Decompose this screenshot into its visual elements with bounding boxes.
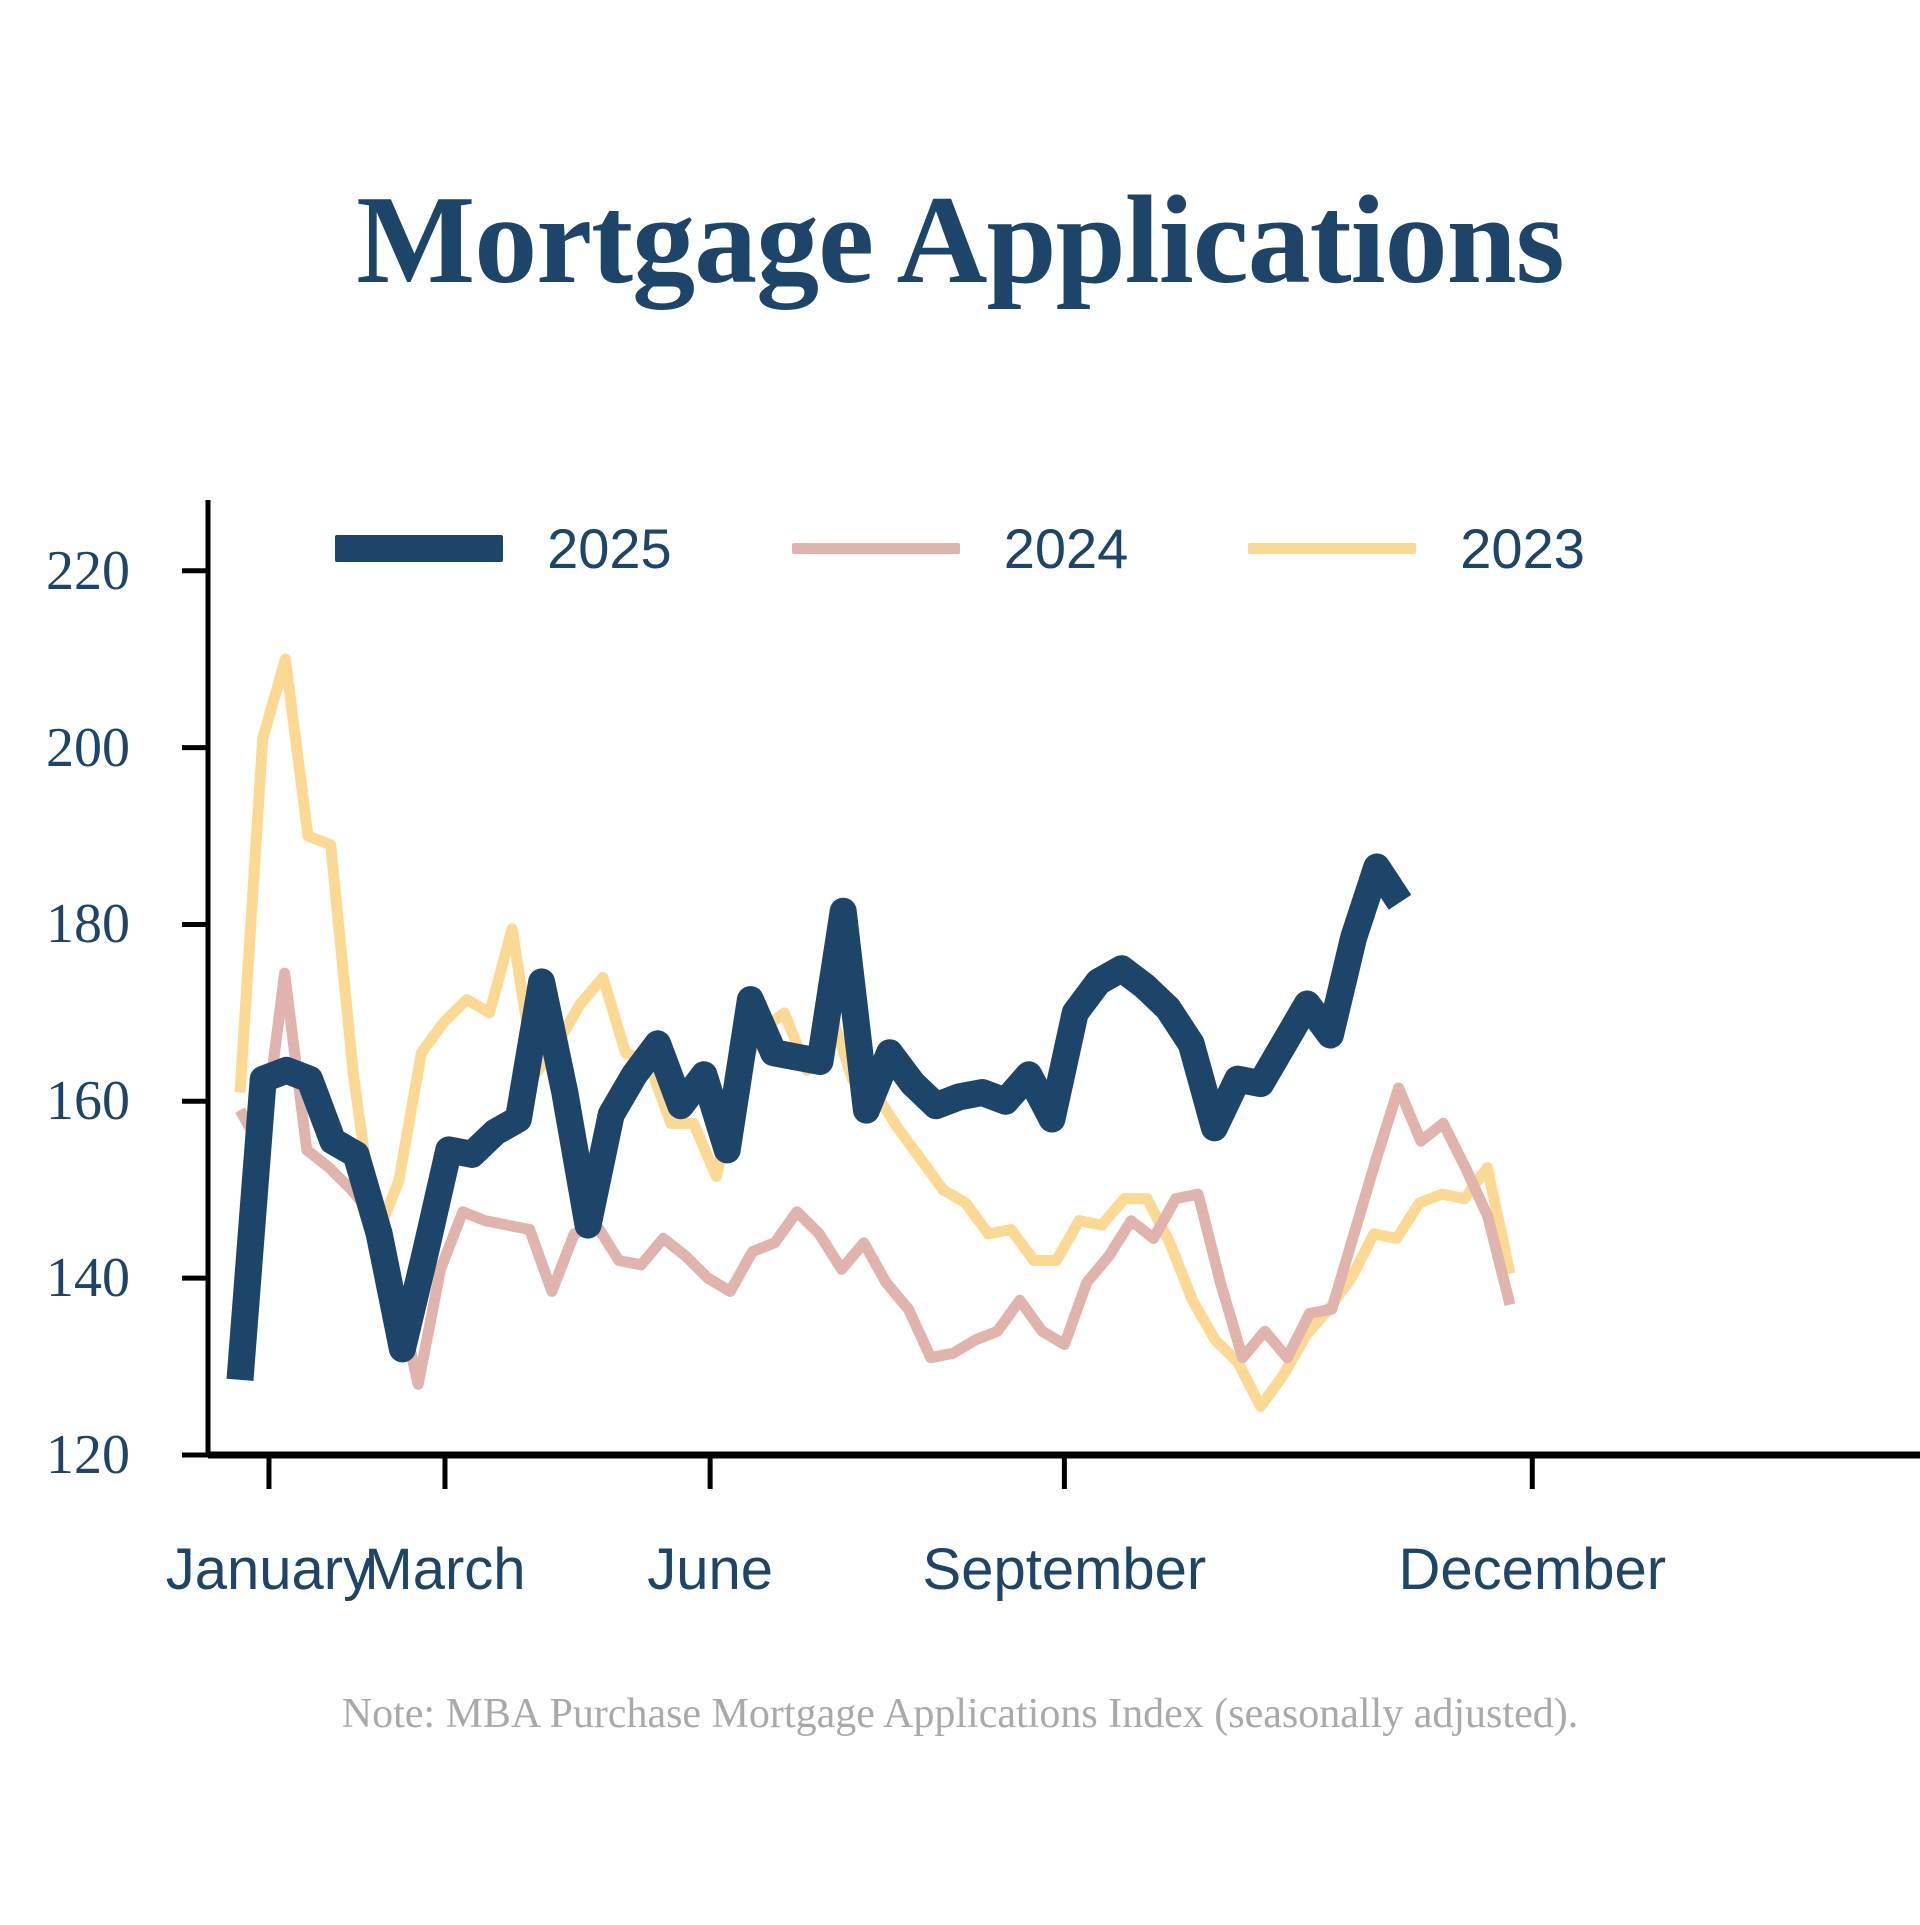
x-axis-tick-label: December <box>1398 1536 1666 1603</box>
x-axis-tick-label: March <box>364 1536 525 1603</box>
page-title: Mortgage Applications <box>0 178 1920 304</box>
legend-item-2023[interactable]: 2023 <box>1248 516 1585 581</box>
x-axis-tick-label: June <box>647 1536 773 1603</box>
legend-label-2023: 2023 <box>1460 516 1585 581</box>
chart-page: Mortgage Applications 2025 2024 2023 120… <box>0 0 1920 1920</box>
y-axis-tick-label: 180 <box>0 892 130 956</box>
y-axis-tick-label: 220 <box>0 539 130 603</box>
legend-swatch-2025 <box>335 535 503 562</box>
chart-axes <box>182 500 1920 1489</box>
legend-swatch-2023 <box>1248 543 1416 554</box>
legend-item-2025[interactable]: 2025 <box>335 516 792 581</box>
y-axis-tick-label: 160 <box>0 1069 130 1133</box>
y-axis-tick-label: 140 <box>0 1246 130 1310</box>
series-line-2025 <box>240 867 1400 1380</box>
chart-series <box>240 659 1510 1406</box>
legend-label-2025: 2025 <box>547 516 672 581</box>
series-line-2024 <box>240 973 1510 1384</box>
y-axis-tick-label: 120 <box>0 1423 130 1487</box>
x-axis-tick-label: September <box>923 1536 1207 1603</box>
legend-label-2024: 2024 <box>1004 516 1129 581</box>
legend-swatch-2024 <box>792 543 960 554</box>
series-line-2023 <box>240 659 1510 1406</box>
y-axis-tick-label: 200 <box>0 716 130 780</box>
x-axis-tick-label: January <box>166 1536 372 1603</box>
chart-note: Note: MBA Purchase Mortgage Applications… <box>0 1690 1920 1738</box>
legend-item-2024[interactable]: 2024 <box>792 516 1249 581</box>
chart-legend: 2025 2024 2023 <box>0 508 1920 588</box>
